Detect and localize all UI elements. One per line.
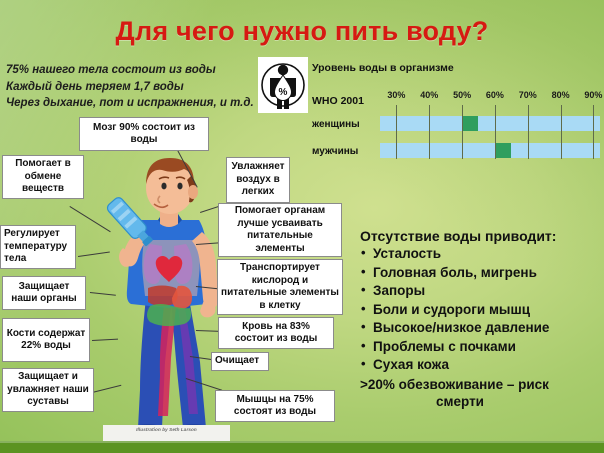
list-item: Проблемы с почками <box>360 338 600 357</box>
chart-source-label: WHO 2001 <box>312 95 364 107</box>
callout-metabolism: Помогает в обмене веществ <box>2 155 84 199</box>
chart-title: Уровень воды в организме <box>312 62 454 74</box>
list-item: Головная боль, мигрень <box>360 264 600 283</box>
chart-gridline <box>528 105 529 159</box>
chart-gridline <box>462 105 463 159</box>
callout-bones: Кости содержат 22% воды <box>2 318 90 362</box>
svg-text:%: % <box>279 87 288 98</box>
chart-plot-area: 30%40%50%60%70%80%90% <box>380 90 600 164</box>
chart-gridline <box>429 105 430 159</box>
callout-temperature: Регулирует температуру тела <box>0 225 76 269</box>
bar-women <box>380 116 600 131</box>
chart-category-men: мужчины <box>312 146 358 157</box>
list-item: Боли и судороги мышц <box>360 301 600 320</box>
deficiency-footer-line2: смерти <box>360 393 600 410</box>
chart-tick-label: 40% <box>420 90 438 100</box>
deficiency-footer-line1: >20% обезвоживание – риск <box>360 376 600 393</box>
water-level-chart: Уровень воды в организме WHO 2001 30%40%… <box>312 62 600 170</box>
page-title: Для чего нужно пить воду? <box>0 16 604 47</box>
list-item: Запоры <box>360 282 600 301</box>
deficiency-heading: Отсутствие воды приводит: <box>360 228 600 244</box>
list-item: Сухая кожа <box>360 356 600 375</box>
callout-brain: Мозг 90% состоит из воды <box>79 117 209 151</box>
chart-gridline <box>593 105 594 159</box>
callout-blood: Кровь на 83% состоит из воды <box>218 317 334 349</box>
intro-fact-3: Через дыхание, пот и испражнения, и т.д. <box>6 95 274 112</box>
list-item: Высокое/низкое давление <box>360 319 600 338</box>
chart-tick-label: 30% <box>387 90 405 100</box>
chart-gridline <box>495 105 496 159</box>
callout-cleanse: Очищает <box>211 352 269 371</box>
callout-muscles: Мышцы на 75% состоят из воды <box>215 390 335 422</box>
chart-tick-label: 60% <box>486 90 504 100</box>
infographic-poster: Для чего нужно пить воду? 75% нашего тел… <box>0 0 604 453</box>
chart-tick-label: 50% <box>453 90 471 100</box>
footer-bar <box>0 441 604 453</box>
deficiency-list: Усталость Головная боль, мигрень Запоры … <box>360 245 600 375</box>
person-water-drop-percent-icon: % <box>258 57 308 113</box>
list-item: Усталость <box>360 245 600 264</box>
callout-joints: Защищает и увлажняет наши суставы <box>2 368 94 412</box>
callout-transport: Транспортирует кислород и питательные эл… <box>217 259 343 315</box>
chart-gridline <box>561 105 562 159</box>
chart-gridline <box>396 105 397 159</box>
bar-marker-women <box>462 116 478 131</box>
callout-nutrients: Помогает органам лучше усваивать питател… <box>218 203 342 257</box>
deficiency-footer: >20% обезвоживание – риск смерти <box>360 376 600 410</box>
bar-marker-men <box>495 143 511 158</box>
callout-lungs: Увлажняет воздух в легких <box>226 157 290 203</box>
intro-fact-1: 75% нашего тела состоит из воды <box>6 62 274 79</box>
chart-category-women: женщины <box>312 119 360 130</box>
chart-tick-label: 70% <box>519 90 537 100</box>
bar-men <box>380 143 600 158</box>
intro-facts: 75% нашего тела состоит из воды Каждый д… <box>6 62 274 112</box>
chart-tick-label: 90% <box>584 90 602 100</box>
illustration-signature: Illustration by Seth Larson <box>103 427 230 432</box>
chart-tick-label: 80% <box>552 90 570 100</box>
intro-fact-2: Каждый день теряем 1,7 воды <box>6 79 274 96</box>
deficiency-panel: Отсутствие воды приводит: Усталость Голо… <box>360 228 600 410</box>
callout-organs: Защищает наши органы <box>2 276 86 310</box>
